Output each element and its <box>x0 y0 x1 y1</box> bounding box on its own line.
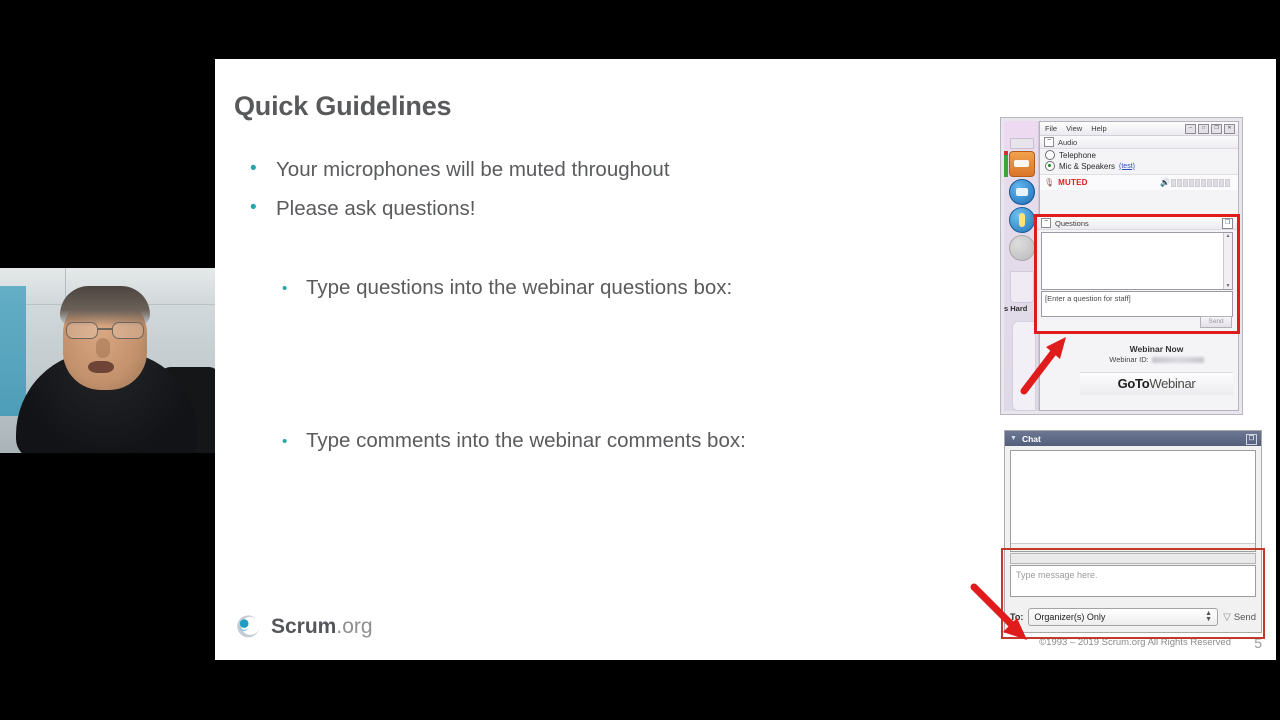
volume-meter: 🔊 <box>1160 178 1234 187</box>
scrum-swirl-icon <box>233 612 263 642</box>
logo-name-light: .org <box>336 615 372 638</box>
chat-send-label: Send <box>1234 612 1256 623</box>
chat-recipient-select[interactable]: Organizer(s) Only ▲ ▼ <box>1028 608 1218 626</box>
presentation-slide: Quick Guidelines • Your microphones will… <box>215 59 1276 660</box>
scroll-down-icon[interactable]: ▼ <box>1224 283 1232 289</box>
chat-log-scrollbar[interactable] <box>1011 543 1255 551</box>
gtw-question-input[interactable]: [Enter a question for staff] <box>1041 291 1233 317</box>
chat-divider-bar <box>1010 553 1256 564</box>
list-item: • Your microphones will be muted through… <box>234 159 934 182</box>
volume-segment <box>1171 179 1176 187</box>
gtw-menu-view[interactable]: View <box>1066 124 1082 133</box>
collapse-icon[interactable]: − <box>1044 137 1054 147</box>
volume-segment <box>1183 179 1188 187</box>
gtw-questions-section: − Questions ❐ ▲ ▼ [Enter a question for … <box>1037 217 1237 331</box>
gtw-audio-option-telephone[interactable]: Telephone <box>1040 149 1238 160</box>
webcam-presenter-glasses <box>64 322 146 338</box>
copyright-text: ©1993 – 2019 Scrum.org All Rights Reserv… <box>1039 637 1231 648</box>
bullet-list: • Your microphones will be muted through… <box>234 159 934 453</box>
rail-grabber-icon <box>1010 138 1034 149</box>
volume-segment <box>1213 179 1218 187</box>
status-badge: MUTED <box>1058 178 1087 187</box>
chat-title-bar: ▼ Chat ❐ <box>1005 431 1261 446</box>
gtw-questions-highlight: − Questions ❐ ▲ ▼ [Enter a question for … <box>1034 214 1240 334</box>
chevron-updown-icon[interactable]: ▲ ▼ <box>1205 611 1212 623</box>
gtw-audio-section-header[interactable]: − Audio <box>1040 136 1238 149</box>
questions-scrollbar[interactable]: ▲ ▼ <box>1223 233 1232 289</box>
volume-segment <box>1195 179 1200 187</box>
volume-segment <box>1189 179 1194 187</box>
webcam-presenter-nose <box>96 338 110 358</box>
glasses-left-lens <box>66 322 98 339</box>
gtw-webinar-id-row: Webinar ID: <box>1080 355 1233 364</box>
gotowebinar-control-panel-image: s Hard File View Help – □ ❐ ✕ − <box>1000 117 1243 415</box>
bullet-dot-icon: • <box>282 430 306 449</box>
scrum-org-logo: Scrum.org <box>233 612 373 642</box>
chat-recipient-row: To: Organizer(s) Only ▲ ▼ ▽ Send <box>1010 608 1256 626</box>
list-item: • Please ask questions! <box>234 198 934 221</box>
scroll-up-icon[interactable]: ▲ <box>1224 233 1232 239</box>
speaker-icon: 🔊 <box>1160 178 1170 187</box>
list-item: • Type questions into the webinar questi… <box>234 277 934 300</box>
gtw-window-buttons: – □ ❐ ✕ <box>1185 124 1235 134</box>
audio-test-link[interactable]: (test) <box>1119 163 1135 170</box>
chat-panel-image: ▼ Chat ❐ Type message here. To: Organize… <box>1004 430 1262 633</box>
webcam-panel <box>0 0 215 720</box>
gtw-question-send-button[interactable]: Send <box>1200 316 1232 328</box>
gtw-questions-header[interactable]: − Questions ❐ <box>1037 217 1237 230</box>
collapse-icon[interactable]: − <box>1041 218 1051 228</box>
volume-segment <box>1177 179 1182 187</box>
rail-disabled-icon <box>1009 235 1035 261</box>
gtw-webinar-info: Webinar Now Webinar ID: <box>1080 344 1233 364</box>
scrum-org-wordmark: Scrum.org <box>271 615 373 639</box>
volume-segment <box>1201 179 1206 187</box>
spacer <box>234 300 934 430</box>
list-item-label: Please ask questions! <box>276 198 475 221</box>
logo-name-bold: Scrum <box>271 615 336 638</box>
list-item: • Type comments into the webinar comment… <box>234 430 934 453</box>
bullet-dot-icon: • <box>250 198 276 217</box>
popout-icon[interactable]: ❐ <box>1246 434 1257 445</box>
minimize-icon[interactable]: – <box>1185 124 1196 134</box>
send-icon: ▽ <box>1223 612 1231 623</box>
chevron-down-icon: ▼ <box>1205 617 1212 623</box>
rail-green-indicator <box>1004 155 1008 177</box>
gtw-menu-help[interactable]: Help <box>1091 124 1106 133</box>
volume-segment <box>1207 179 1212 187</box>
list-item-label: Your microphones will be muted throughou… <box>276 159 670 182</box>
rail-partial-text: s Hard <box>1004 304 1027 313</box>
rail-webcam-icon <box>1009 179 1035 205</box>
close-icon[interactable]: ✕ <box>1224 124 1235 134</box>
gtw-questions-label: Questions <box>1055 219 1089 228</box>
webcam-presenter-mouth <box>88 361 114 373</box>
gtw-brand-light: Webinar <box>1149 376 1195 391</box>
rail-audio-icon <box>1009 207 1035 233</box>
popout-icon[interactable]: ❐ <box>1222 218 1233 229</box>
webinar-recording-screen: Quick Guidelines • Your microphones will… <box>0 0 1280 720</box>
page-title: Quick Guidelines <box>234 91 451 122</box>
chat-title-label: Chat <box>1022 434 1041 444</box>
spacer <box>234 237 934 277</box>
bullet-dot-icon: • <box>282 277 306 296</box>
arrow-pointing-to-chat-box <box>969 582 1039 647</box>
glasses-bridge <box>97 328 113 330</box>
list-item-label: Type questions into the webinar question… <box>306 277 732 300</box>
gtw-audio-option-telephone-label: Telephone <box>1059 151 1096 160</box>
arrow-pointing-to-questions-box <box>1016 325 1076 395</box>
gtw-audio-status-row: 🎙 MUTED 🔊 <box>1040 174 1238 190</box>
presenter-webcam-feed <box>0 268 215 453</box>
mic-icon: 🎙 <box>1044 178 1054 187</box>
gtw-audio-option-mic-speakers[interactable]: Mic & Speakers (test) <box>1040 160 1238 171</box>
chat-message-input[interactable]: Type message here. <box>1010 565 1256 597</box>
gtw-questions-list[interactable]: ▲ ▼ <box>1041 232 1233 290</box>
chat-message-log[interactable] <box>1010 450 1256 552</box>
chevron-down-icon[interactable]: ▼ <box>1010 435 1017 442</box>
webcam-blue-wall-panel <box>0 286 26 416</box>
bullet-dot-icon: • <box>250 159 276 178</box>
gtw-webinar-id-label: Webinar ID: <box>1109 355 1148 364</box>
list-item-label: Type comments into the webinar comments … <box>306 430 746 453</box>
gtw-menu-file[interactable]: File <box>1045 124 1057 133</box>
gtw-audio-option-mic-speakers-label: Mic & Speakers <box>1059 162 1115 171</box>
radio-icon[interactable] <box>1045 150 1055 160</box>
page-number: 5 <box>1254 635 1262 651</box>
chat-recipient-value: Organizer(s) Only <box>1034 612 1105 622</box>
gotowebinar-logo: GoToWebinar <box>1080 372 1233 395</box>
gtw-brand-bold: GoTo <box>1118 376 1150 391</box>
chat-send-button[interactable]: ▽ Send <box>1223 612 1256 623</box>
rail-screen-share-icon <box>1009 151 1035 177</box>
volume-segment <box>1225 179 1230 187</box>
maximize-icon[interactable]: □ <box>1198 124 1209 134</box>
rail-tab-handle <box>1010 271 1034 303</box>
gtw-webinar-title: Webinar Now <box>1080 344 1233 354</box>
webcam-presenter-hair <box>60 286 150 326</box>
gtw-audio-section-label: Audio <box>1058 138 1077 147</box>
restore-icon[interactable]: ❐ <box>1211 124 1222 134</box>
radio-icon-selected[interactable] <box>1045 161 1055 171</box>
gtw-menu-bar: File View Help – □ ❐ ✕ <box>1040 122 1238 136</box>
gtw-webinar-id-redacted <box>1152 357 1204 363</box>
glasses-right-lens <box>112 322 144 339</box>
volume-segment <box>1219 179 1224 187</box>
